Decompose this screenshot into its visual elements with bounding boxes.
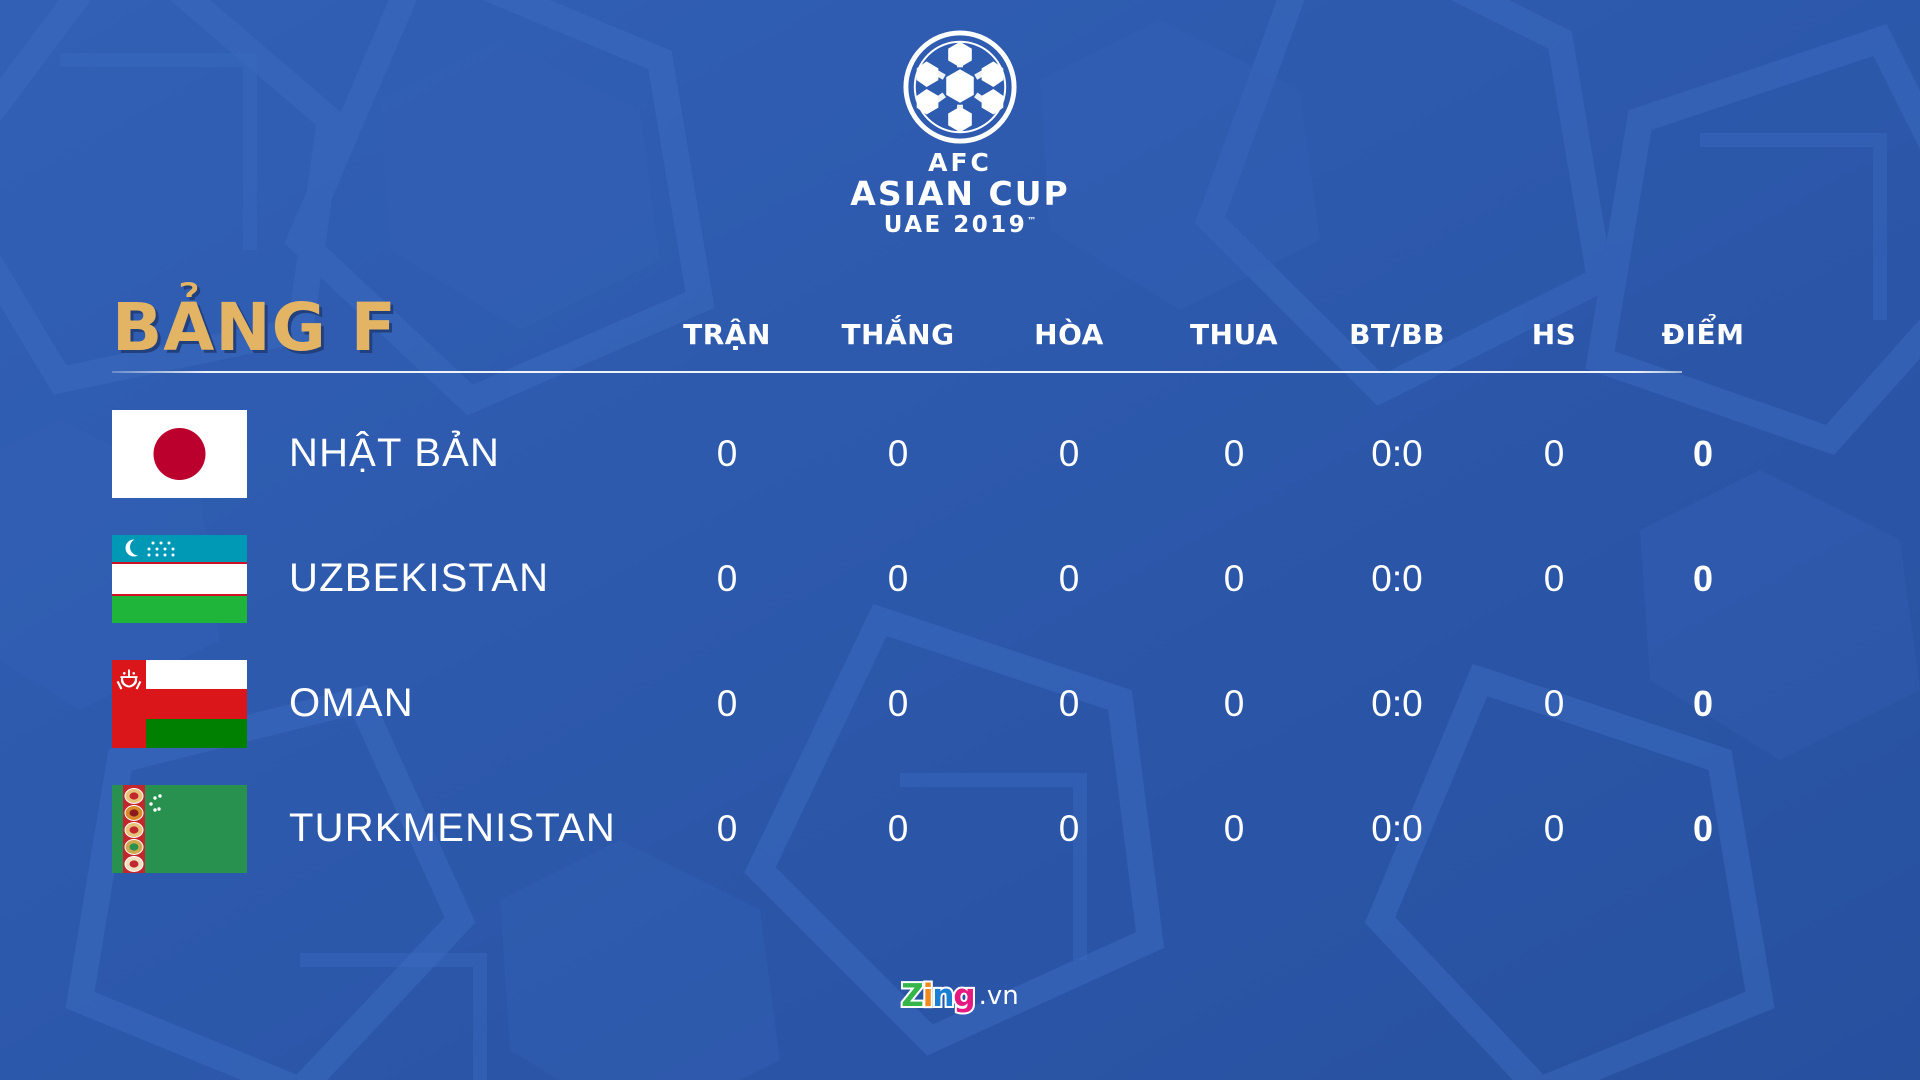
flag-uzbekistan bbox=[112, 535, 247, 623]
stat-drawn: 0 bbox=[984, 558, 1154, 600]
stat-points: 0 bbox=[1628, 558, 1778, 600]
column-headers: TRẬN THẮNG HÒA THUA BT/BB HS ĐIỂM bbox=[642, 318, 1812, 365]
stat-lost: 0 bbox=[1154, 433, 1314, 475]
column-header-drawn: HÒA bbox=[984, 318, 1154, 351]
team-stats: 0 0 0 0 0:0 0 0 bbox=[642, 558, 1812, 600]
stat-diff: 0 bbox=[1480, 433, 1628, 475]
logo-line-asian-cup: ASIAN CUP bbox=[850, 176, 1069, 212]
logo-uae-text: UAE 2019 bbox=[884, 212, 1028, 238]
column-header-goals: BT/BB bbox=[1314, 318, 1480, 351]
team-cell: NHẬT BẢN bbox=[112, 410, 642, 498]
stat-goals: 0:0 bbox=[1314, 433, 1480, 475]
stat-points: 0 bbox=[1628, 808, 1778, 850]
column-header-lost: THUA bbox=[1154, 318, 1314, 351]
stat-goals: 0:0 bbox=[1314, 558, 1480, 600]
stat-played: 0 bbox=[642, 683, 812, 725]
soccer-ball-icon bbox=[901, 28, 1019, 146]
stat-goals: 0:0 bbox=[1314, 683, 1480, 725]
team-name: NHẬT BẢN bbox=[289, 431, 500, 476]
team-name: UZBEKISTAN bbox=[289, 556, 549, 601]
zing-letter-i: i bbox=[923, 978, 933, 1014]
stat-played: 0 bbox=[642, 808, 812, 850]
stat-played: 0 bbox=[642, 433, 812, 475]
standings-board: BẢNG F TRẬN THẮNG HÒA THUA BT/BB HS ĐIỂM… bbox=[112, 255, 1812, 891]
zing-vn-watermark: Zing .vn bbox=[901, 978, 1019, 1014]
zing-logo-text: Zing bbox=[901, 978, 974, 1014]
team-name: TURKMENISTAN bbox=[289, 806, 616, 851]
stat-points: 0 bbox=[1628, 433, 1778, 475]
flag-oman bbox=[112, 660, 247, 748]
trademark-symbol: ™ bbox=[1027, 216, 1036, 226]
team-stats: 0 0 0 0 0:0 0 0 bbox=[642, 808, 1812, 850]
team-name: OMAN bbox=[289, 681, 414, 726]
zing-domain-suffix: .vn bbox=[979, 981, 1019, 1011]
header-divider bbox=[112, 371, 1682, 373]
stat-lost: 0 bbox=[1154, 808, 1314, 850]
stat-drawn: 0 bbox=[984, 808, 1154, 850]
stat-won: 0 bbox=[812, 433, 984, 475]
table-row[interactable]: UZBEKISTAN 0 0 0 0 0:0 0 0 bbox=[112, 516, 1812, 641]
column-header-diff: HS bbox=[1480, 318, 1628, 351]
stat-won: 0 bbox=[812, 558, 984, 600]
stat-goals: 0:0 bbox=[1314, 808, 1480, 850]
stat-drawn: 0 bbox=[984, 433, 1154, 475]
standings-rows: NHẬT BẢN 0 0 0 0 0:0 0 0 bbox=[112, 391, 1812, 891]
group-title: BẢNG F bbox=[112, 295, 642, 365]
stat-won: 0 bbox=[812, 683, 984, 725]
stat-won: 0 bbox=[812, 808, 984, 850]
table-row[interactable]: OMAN 0 0 0 0 0:0 0 0 bbox=[112, 641, 1812, 766]
team-cell: UZBEKISTAN bbox=[112, 535, 642, 623]
stat-points: 0 bbox=[1628, 683, 1778, 725]
flag-japan bbox=[112, 410, 247, 498]
column-header-points: ĐIỂM bbox=[1628, 318, 1778, 351]
flag-turkmenistan bbox=[112, 785, 247, 873]
table-header-row: BẢNG F TRẬN THẮNG HÒA THUA BT/BB HS ĐIỂM bbox=[112, 255, 1812, 365]
column-header-won: THẮNG bbox=[812, 318, 984, 351]
team-cell: TURKMENISTAN bbox=[112, 785, 642, 873]
zing-letter-z: Z bbox=[901, 978, 922, 1014]
stat-diff: 0 bbox=[1480, 558, 1628, 600]
stat-diff: 0 bbox=[1480, 683, 1628, 725]
zing-letter-g: g bbox=[953, 978, 974, 1014]
team-stats: 0 0 0 0 0:0 0 0 bbox=[642, 433, 1812, 475]
team-stats: 0 0 0 0 0:0 0 0 bbox=[642, 683, 1812, 725]
table-row[interactable]: NHẬT BẢN 0 0 0 0 0:0 0 0 bbox=[112, 391, 1812, 516]
stat-drawn: 0 bbox=[984, 683, 1154, 725]
logo-line-uae-2019: UAE 2019™ bbox=[850, 212, 1069, 240]
stat-diff: 0 bbox=[1480, 808, 1628, 850]
logo-line-afc: AFC bbox=[850, 150, 1069, 176]
afc-asian-cup-logo: AFC ASIAN CUP UAE 2019™ bbox=[845, 28, 1075, 239]
team-cell: OMAN bbox=[112, 660, 642, 748]
column-header-played: TRẬN bbox=[642, 318, 812, 351]
table-row[interactable]: TURKMENISTAN 0 0 0 0 0:0 0 0 bbox=[112, 766, 1812, 891]
zing-letter-n: n bbox=[932, 978, 953, 1014]
stat-lost: 0 bbox=[1154, 558, 1314, 600]
stat-lost: 0 bbox=[1154, 683, 1314, 725]
stat-played: 0 bbox=[642, 558, 812, 600]
